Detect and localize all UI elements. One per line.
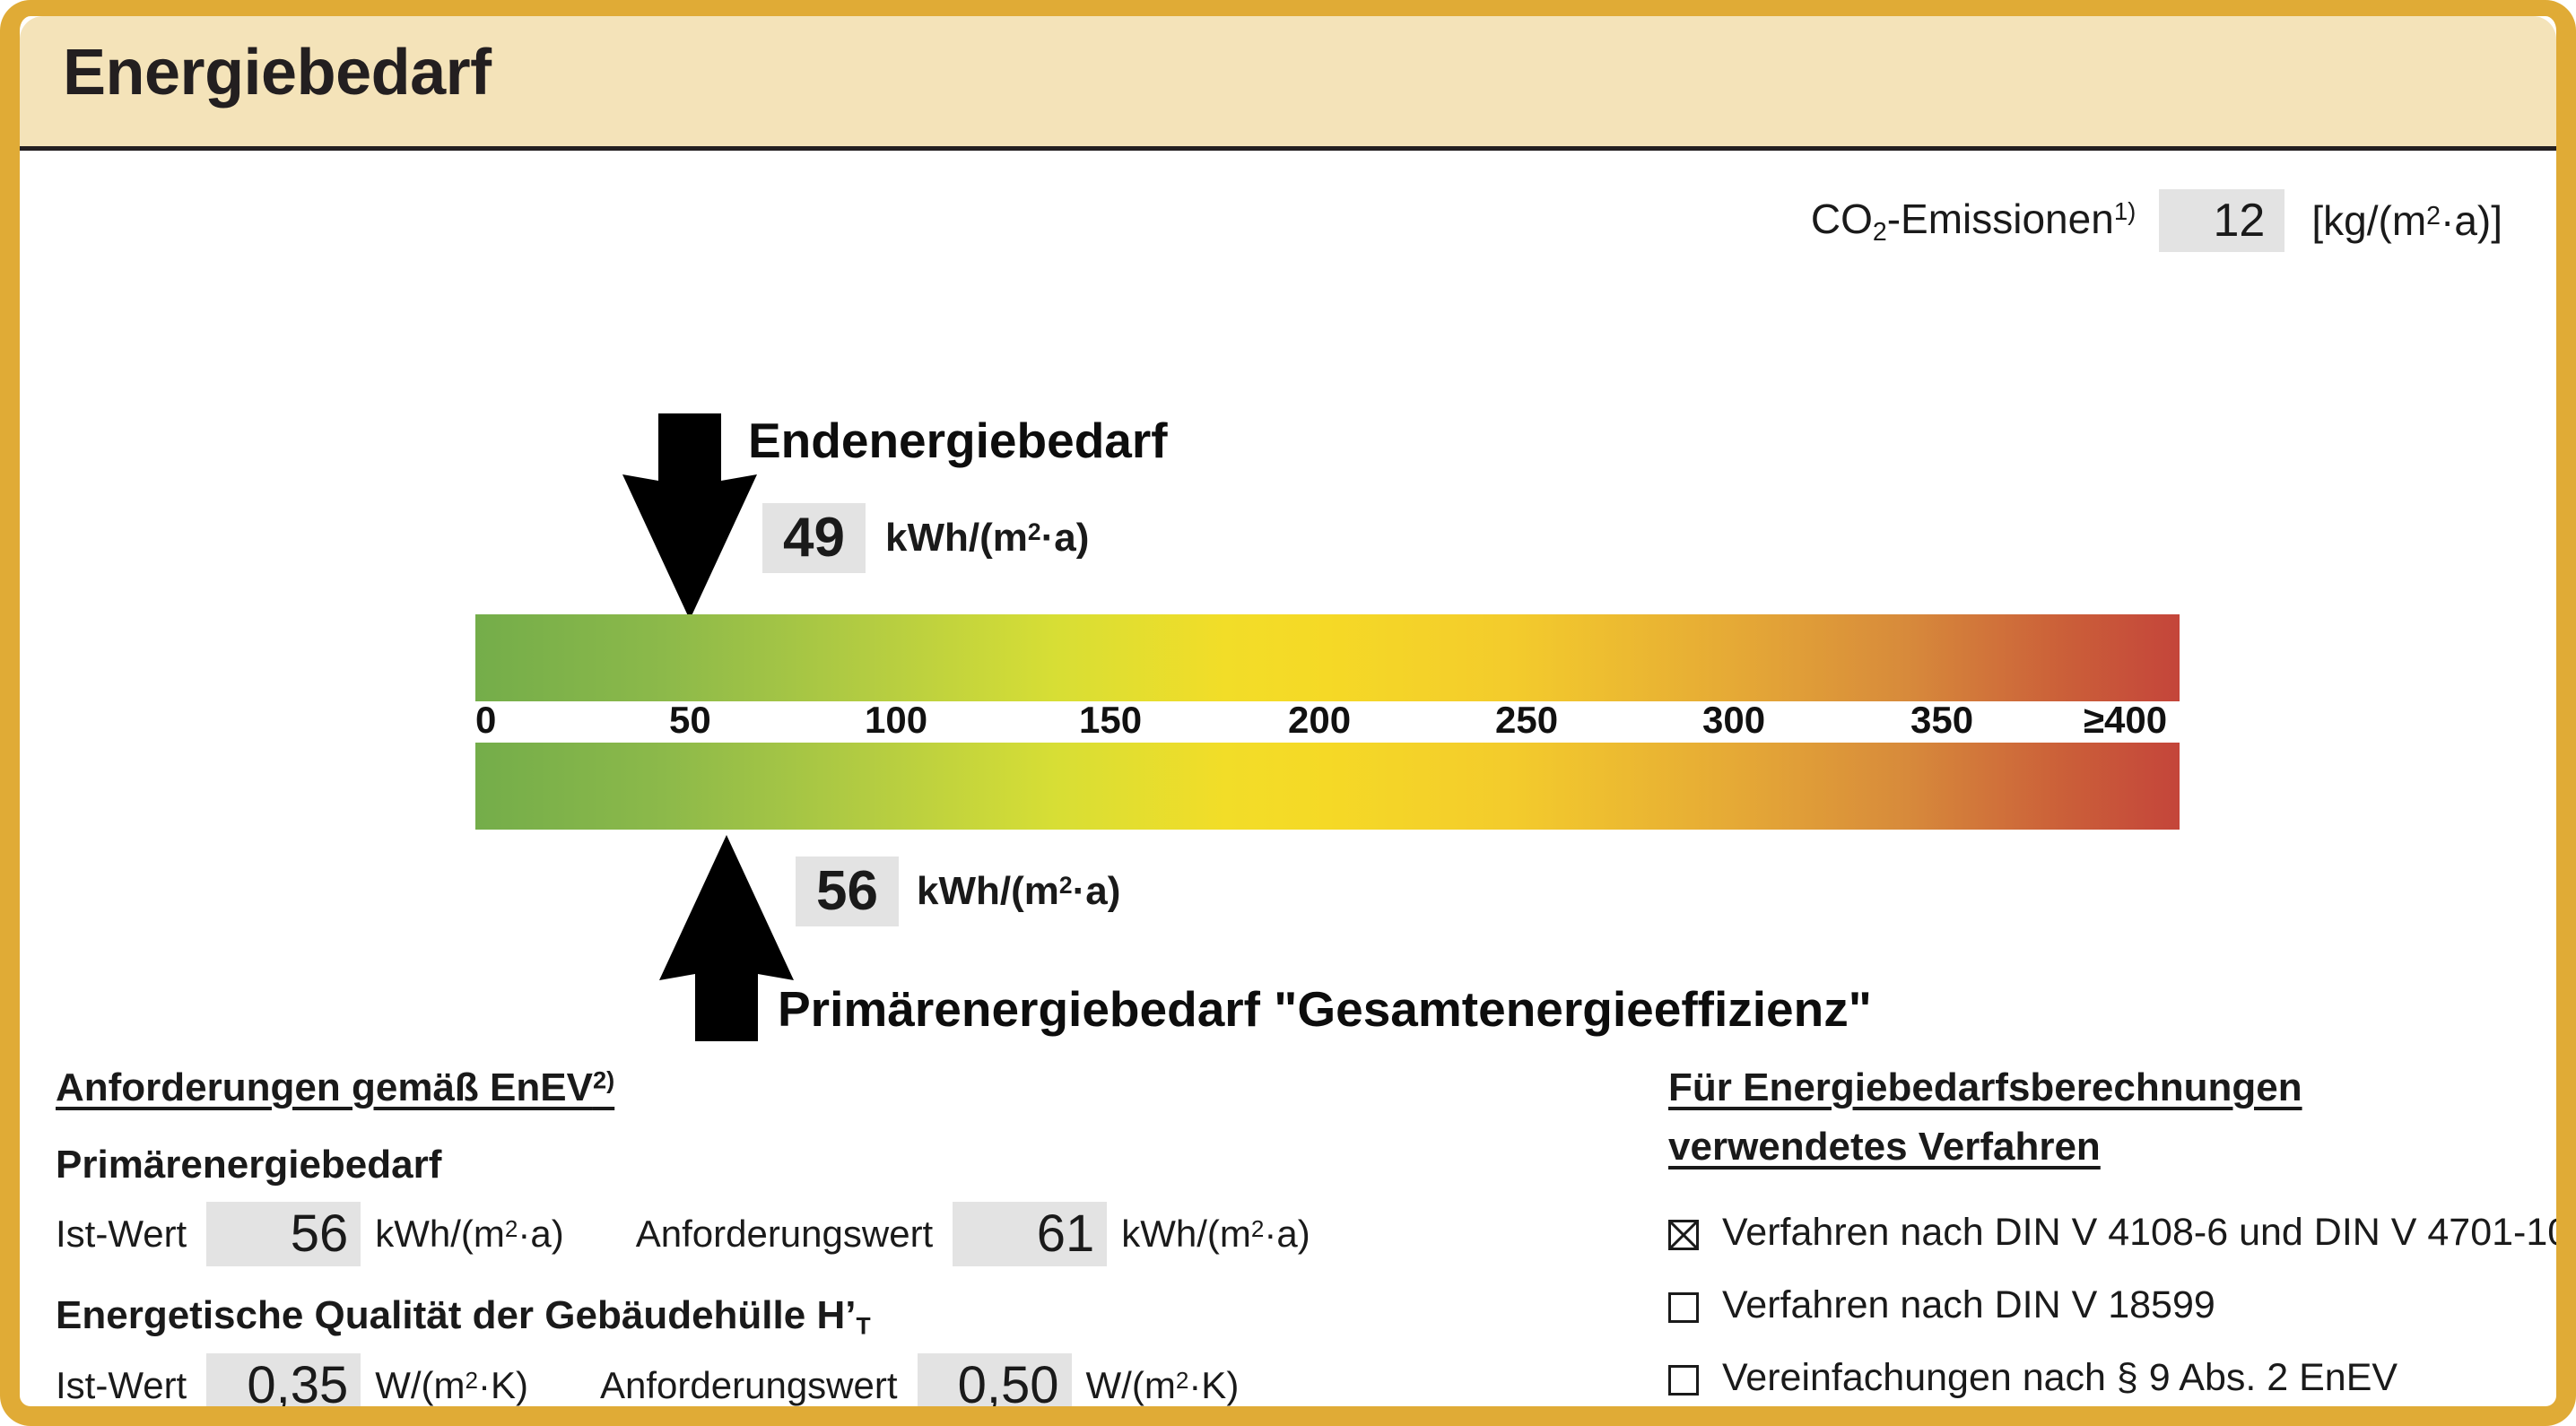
method-label-din-18599: Verfahren nach DIN V 18599 <box>1722 1283 2215 1327</box>
scale-tick-0: 0 <box>475 700 496 741</box>
primaer-ist-label: Ist-Wert <box>56 1213 187 1256</box>
primaer-ist-unit: kWh/(m2·a) <box>375 1213 563 1256</box>
primaer-anf-unit: kWh/(m2·a) <box>1121 1213 1310 1256</box>
huelle-values-row: Ist-Wert 0,35 W/(m2·K) Anforderungswert … <box>56 1353 1616 1418</box>
primaerenergiebedarf-unit: kWh/(m2·a) <box>917 869 1120 914</box>
header-banner: Energiebedarf <box>20 16 2556 151</box>
co2-emissions-row: CO2-Emissionen1) 12 [kg/(m2·a)] <box>1811 189 2502 252</box>
gebaeudehuelle-subheading: Energetische Qualität der Gebäudehülle H… <box>56 1293 1616 1341</box>
method-label-din-4108: Verfahren nach DIN V 4108-6 und DIN V 47… <box>1722 1211 2569 1255</box>
scale-tick-150: 150 <box>1079 700 1142 741</box>
endenergiebedarf-unit: kWh/(m2·a) <box>885 516 1089 561</box>
primaer-ist-value: 56 <box>206 1202 361 1266</box>
requirements-heading: Anforderungen gemäß EnEV2) <box>56 1065 1616 1110</box>
primaerenergiebedarf-subheading: Primärenergiebedarf <box>56 1143 1616 1187</box>
endenergiebedarf-value: 49 <box>762 503 866 573</box>
endenergiebedarf-title: Endenergiebedarf <box>748 412 1168 469</box>
primaer-anf-value: 61 <box>953 1202 1107 1266</box>
methods-heading-line2: verwendetes Verfahren <box>1668 1125 2556 1169</box>
co2-emissions-label: CO2-Emissionen1) <box>1811 195 2137 248</box>
primaer-values-row: Ist-Wert 56 kWh/(m2·a) Anforderungswert … <box>56 1202 1616 1266</box>
huelle-ist-unit: W/(m2·K) <box>375 1364 528 1407</box>
scale-tick-400: ≥400 <box>2084 700 2167 741</box>
scale-tick-250: 250 <box>1495 700 1558 741</box>
huelle-ist-label: Ist-Wert <box>56 1364 187 1407</box>
energy-scale: 0 50 100 150 200 250 300 350 ≥400 <box>475 614 2180 830</box>
method-option-vereinfachungen[interactable]: Vereinfachungen nach § 9 Abs. 2 EnEV <box>1668 1356 2556 1400</box>
method-checkbox-din-4108[interactable] <box>1668 1220 1699 1250</box>
requirements-section: Anforderungen gemäß EnEV2) Primärenergie… <box>56 1065 1616 1426</box>
methods-section: Für Energiebedarfsberechnungen verwendet… <box>1668 1065 2556 1400</box>
page-title: Energiebedarf <box>63 36 492 109</box>
scale-band-bottom <box>475 743 2180 830</box>
co2-emissions-unit: [kg/(m2·a)] <box>2311 196 2502 245</box>
method-checkbox-din-18599[interactable] <box>1668 1292 1699 1323</box>
method-checkbox-vereinfachungen[interactable] <box>1668 1365 1699 1396</box>
scale-tick-50: 50 <box>669 700 711 741</box>
method-option-din-18599[interactable]: Verfahren nach DIN V 18599 <box>1668 1283 2556 1327</box>
down-arrow-icon <box>622 413 757 620</box>
huelle-anf-value: 0,50 <box>918 1353 1072 1418</box>
primaer-anf-label: Anforderungswert <box>636 1213 934 1256</box>
scale-band-top <box>475 614 2180 701</box>
huelle-anf-unit: W/(m2·K) <box>1086 1364 1240 1407</box>
scale-tick-100: 100 <box>865 700 927 741</box>
scale-tick-300: 300 <box>1702 700 1765 741</box>
co2-emissions-value: 12 <box>2159 189 2284 252</box>
huelle-anf-label: Anforderungswert <box>600 1364 898 1407</box>
scale-tick-200: 200 <box>1288 700 1351 741</box>
method-option-din-4108[interactable]: Verfahren nach DIN V 4108-6 und DIN V 47… <box>1668 1211 2556 1255</box>
primaerenergiebedarf-value: 56 <box>796 856 899 926</box>
scale-tick-350: 350 <box>1910 700 1973 741</box>
methods-heading-line1: Für Energiebedarfsberechnungen <box>1668 1065 2556 1110</box>
endenergiebedarf-value-row: 49 kWh/(m2·a) <box>762 503 1089 573</box>
primaerenergiebedarf-title: Primärenergiebedarf "Gesamtenergieeffizi… <box>778 980 1872 1038</box>
up-arrow-icon <box>659 835 794 1041</box>
primaerenergiebedarf-value-row: 56 kWh/(m2·a) <box>796 856 1120 926</box>
huelle-ist-value: 0,35 <box>206 1353 361 1418</box>
scale-tick-labels: 0 50 100 150 200 250 300 350 ≥400 <box>475 701 2180 743</box>
energy-certificate-page: Energiebedarf CO2-Emissionen1) 12 [kg/(m… <box>0 0 2576 1426</box>
method-label-vereinfachungen: Vereinfachungen nach § 9 Abs. 2 EnEV <box>1722 1356 2398 1400</box>
content-area: CO2-Emissionen1) 12 [kg/(m2·a)] Endenerg… <box>20 155 2556 1406</box>
